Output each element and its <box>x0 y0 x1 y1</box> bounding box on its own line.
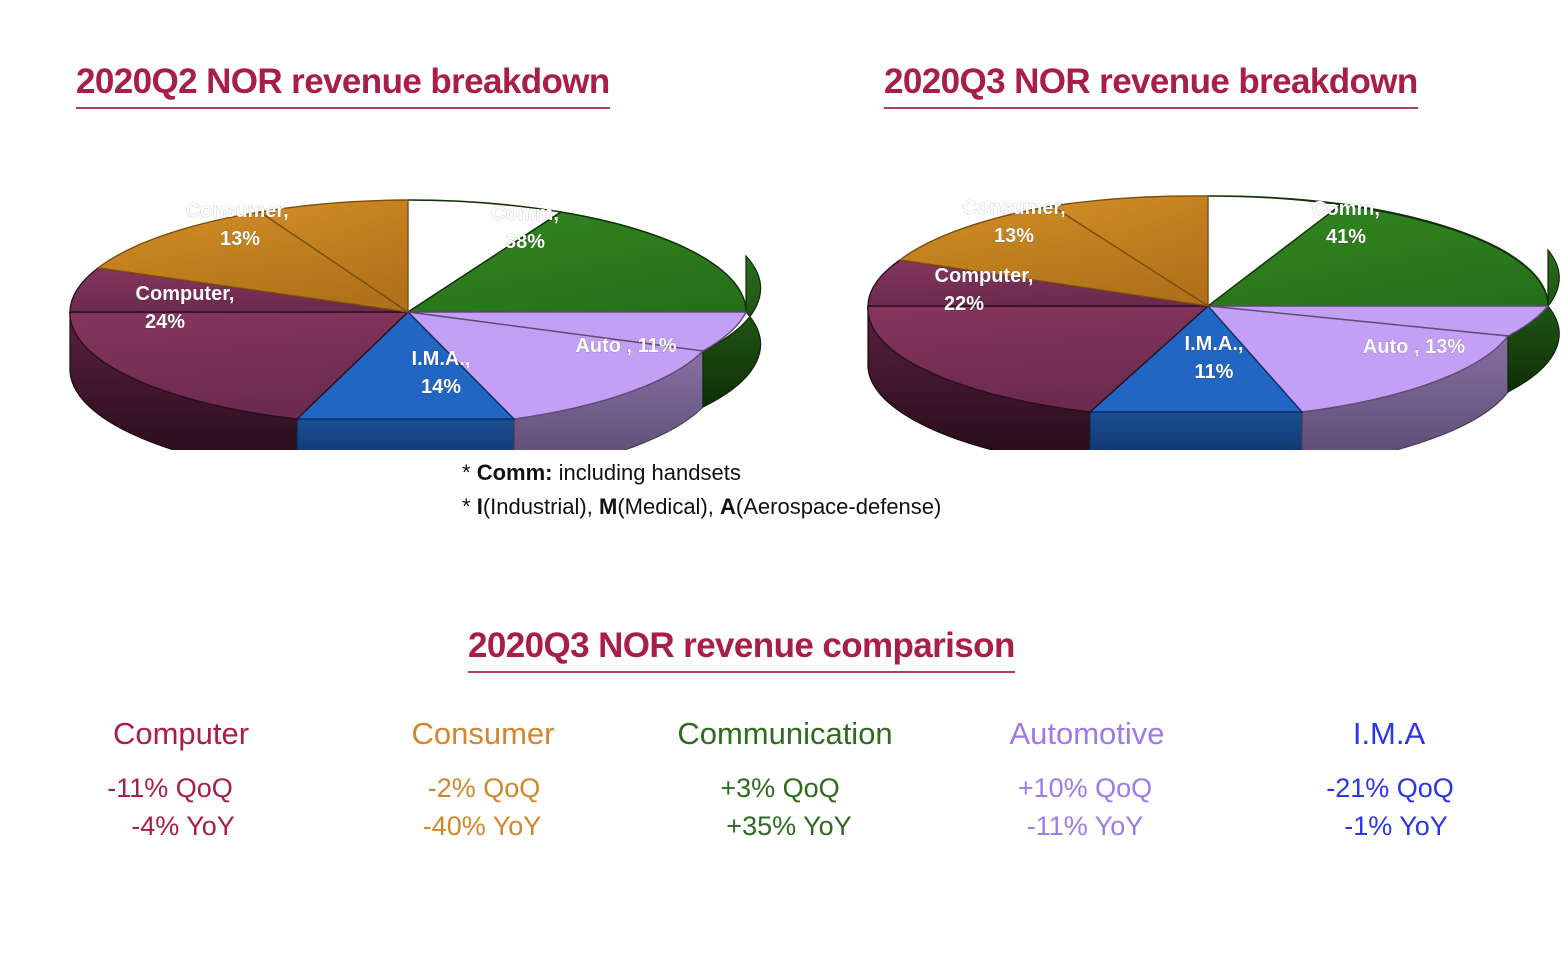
chart-title-q3: 2020Q3 NOR revenue breakdown <box>884 62 1418 109</box>
comparison-column-communication: Communication +3% QoQ +35% YoY <box>634 718 936 845</box>
pie-label-computer-pct: 24% <box>145 311 185 333</box>
slide-canvas: 2020Q2 NOR revenue breakdown <box>0 0 1568 974</box>
segment-qoq: -11% QoQ <box>8 769 332 807</box>
pie-chart-q2-svg: Comm, 38% Auto , 11% I.M.A., 14% Compute… <box>48 160 768 450</box>
pie-chart-q3-svg: Comm, 41% Auto , 13% I.M.A., 11% Compute… <box>856 160 1568 450</box>
pie-label-computer: Computer, <box>935 265 1034 287</box>
pie-label-comm-pct: 41% <box>1326 226 1366 248</box>
footnote-text-comm: including handsets <box>559 460 741 485</box>
comparison-column-consumer: Consumer -2% QoQ -40% YoY <box>332 718 634 845</box>
segment-name: Consumer <box>332 718 634 751</box>
segment-name: Automotive <box>936 718 1238 751</box>
segment-yoy: -4% YoY <box>34 807 332 845</box>
pie-label-ima-pct: 11% <box>1195 361 1234 383</box>
pie-label-auto: Auto , 13% <box>1363 336 1465 358</box>
chart-title-q2: 2020Q2 NOR revenue breakdown <box>76 62 610 109</box>
pie-label-ima: I.M.A., <box>1185 333 1244 355</box>
pie-label-consumer: Consumer, <box>185 200 288 222</box>
pie-label-ima-pct: 14% <box>421 376 461 398</box>
footnote-text-medical: (Medical), <box>617 494 714 519</box>
pie-slice-side-ima <box>1090 412 1302 450</box>
footnote-bullet: * <box>462 494 471 519</box>
comparison-title: 2020Q3 NOR revenue comparison <box>468 626 1015 673</box>
pie-label-computer: Computer, <box>136 283 235 305</box>
pie-slice-side-ima <box>297 419 514 450</box>
pie-label-consumer: Consumer, <box>962 197 1065 219</box>
footnote-text-industrial: (Industrial), <box>483 494 593 519</box>
comparison-row: Computer -11% QoQ -4% YoY Consumer -2% Q… <box>30 718 1540 845</box>
segment-qoq: -21% QoQ <box>1240 769 1540 807</box>
footnote-line-1: * Comm: including handsets <box>462 456 941 490</box>
footnotes: * Comm: including handsets * I(Industria… <box>462 456 941 524</box>
pie-label-computer-pct: 22% <box>944 293 984 315</box>
segment-name: Computer <box>30 718 332 751</box>
segment-name: I.M.A <box>1238 718 1540 751</box>
footnote-initial-a: A <box>720 494 736 519</box>
pie-label-consumer-pct: 13% <box>220 228 260 250</box>
pie-slice-top-comm-upper <box>408 200 746 312</box>
footnote-line-2: * I(Industrial), M(Medical), A(Aerospace… <box>462 490 941 524</box>
pie-label-comm: Comm, <box>1312 198 1380 220</box>
segment-qoq: +3% QoQ <box>624 769 936 807</box>
footnote-term-comm: Comm: <box>477 460 553 485</box>
comparison-column-ima: I.M.A -21% QoQ -1% YoY <box>1238 718 1540 845</box>
pie-label-ima: I.M.A., <box>412 348 471 370</box>
segment-yoy: -11% YoY <box>932 807 1238 845</box>
footnote-bullet: * <box>462 460 471 485</box>
segment-name: Communication <box>634 718 936 751</box>
comparison-column-automotive: Automotive +10% QoQ -11% YoY <box>936 718 1238 845</box>
pie-label-consumer-pct: 13% <box>994 225 1034 247</box>
segment-qoq: -2% QoQ <box>334 769 634 807</box>
footnote-text-aerospace: (Aerospace-defense) <box>736 494 941 519</box>
pie-label-auto: Auto , 11% <box>575 335 676 357</box>
pie-label-comm: Comm, <box>491 203 559 225</box>
segment-yoy: +35% YoY <box>642 807 936 845</box>
pie-chart-q3: Comm, 41% Auto , 13% I.M.A., 11% Compute… <box>856 160 1568 450</box>
segment-qoq: +10% QoQ <box>932 769 1238 807</box>
segment-yoy: -40% YoY <box>330 807 634 845</box>
segment-yoy: -1% YoY <box>1252 807 1540 845</box>
pie-chart-q2: Comm, 38% Auto , 11% I.M.A., 14% Compute… <box>48 160 768 450</box>
footnote-initial-m: M <box>599 494 617 519</box>
pie-label-comm-pct: 38% <box>505 231 545 253</box>
comparison-column-computer: Computer -11% QoQ -4% YoY <box>30 718 332 845</box>
